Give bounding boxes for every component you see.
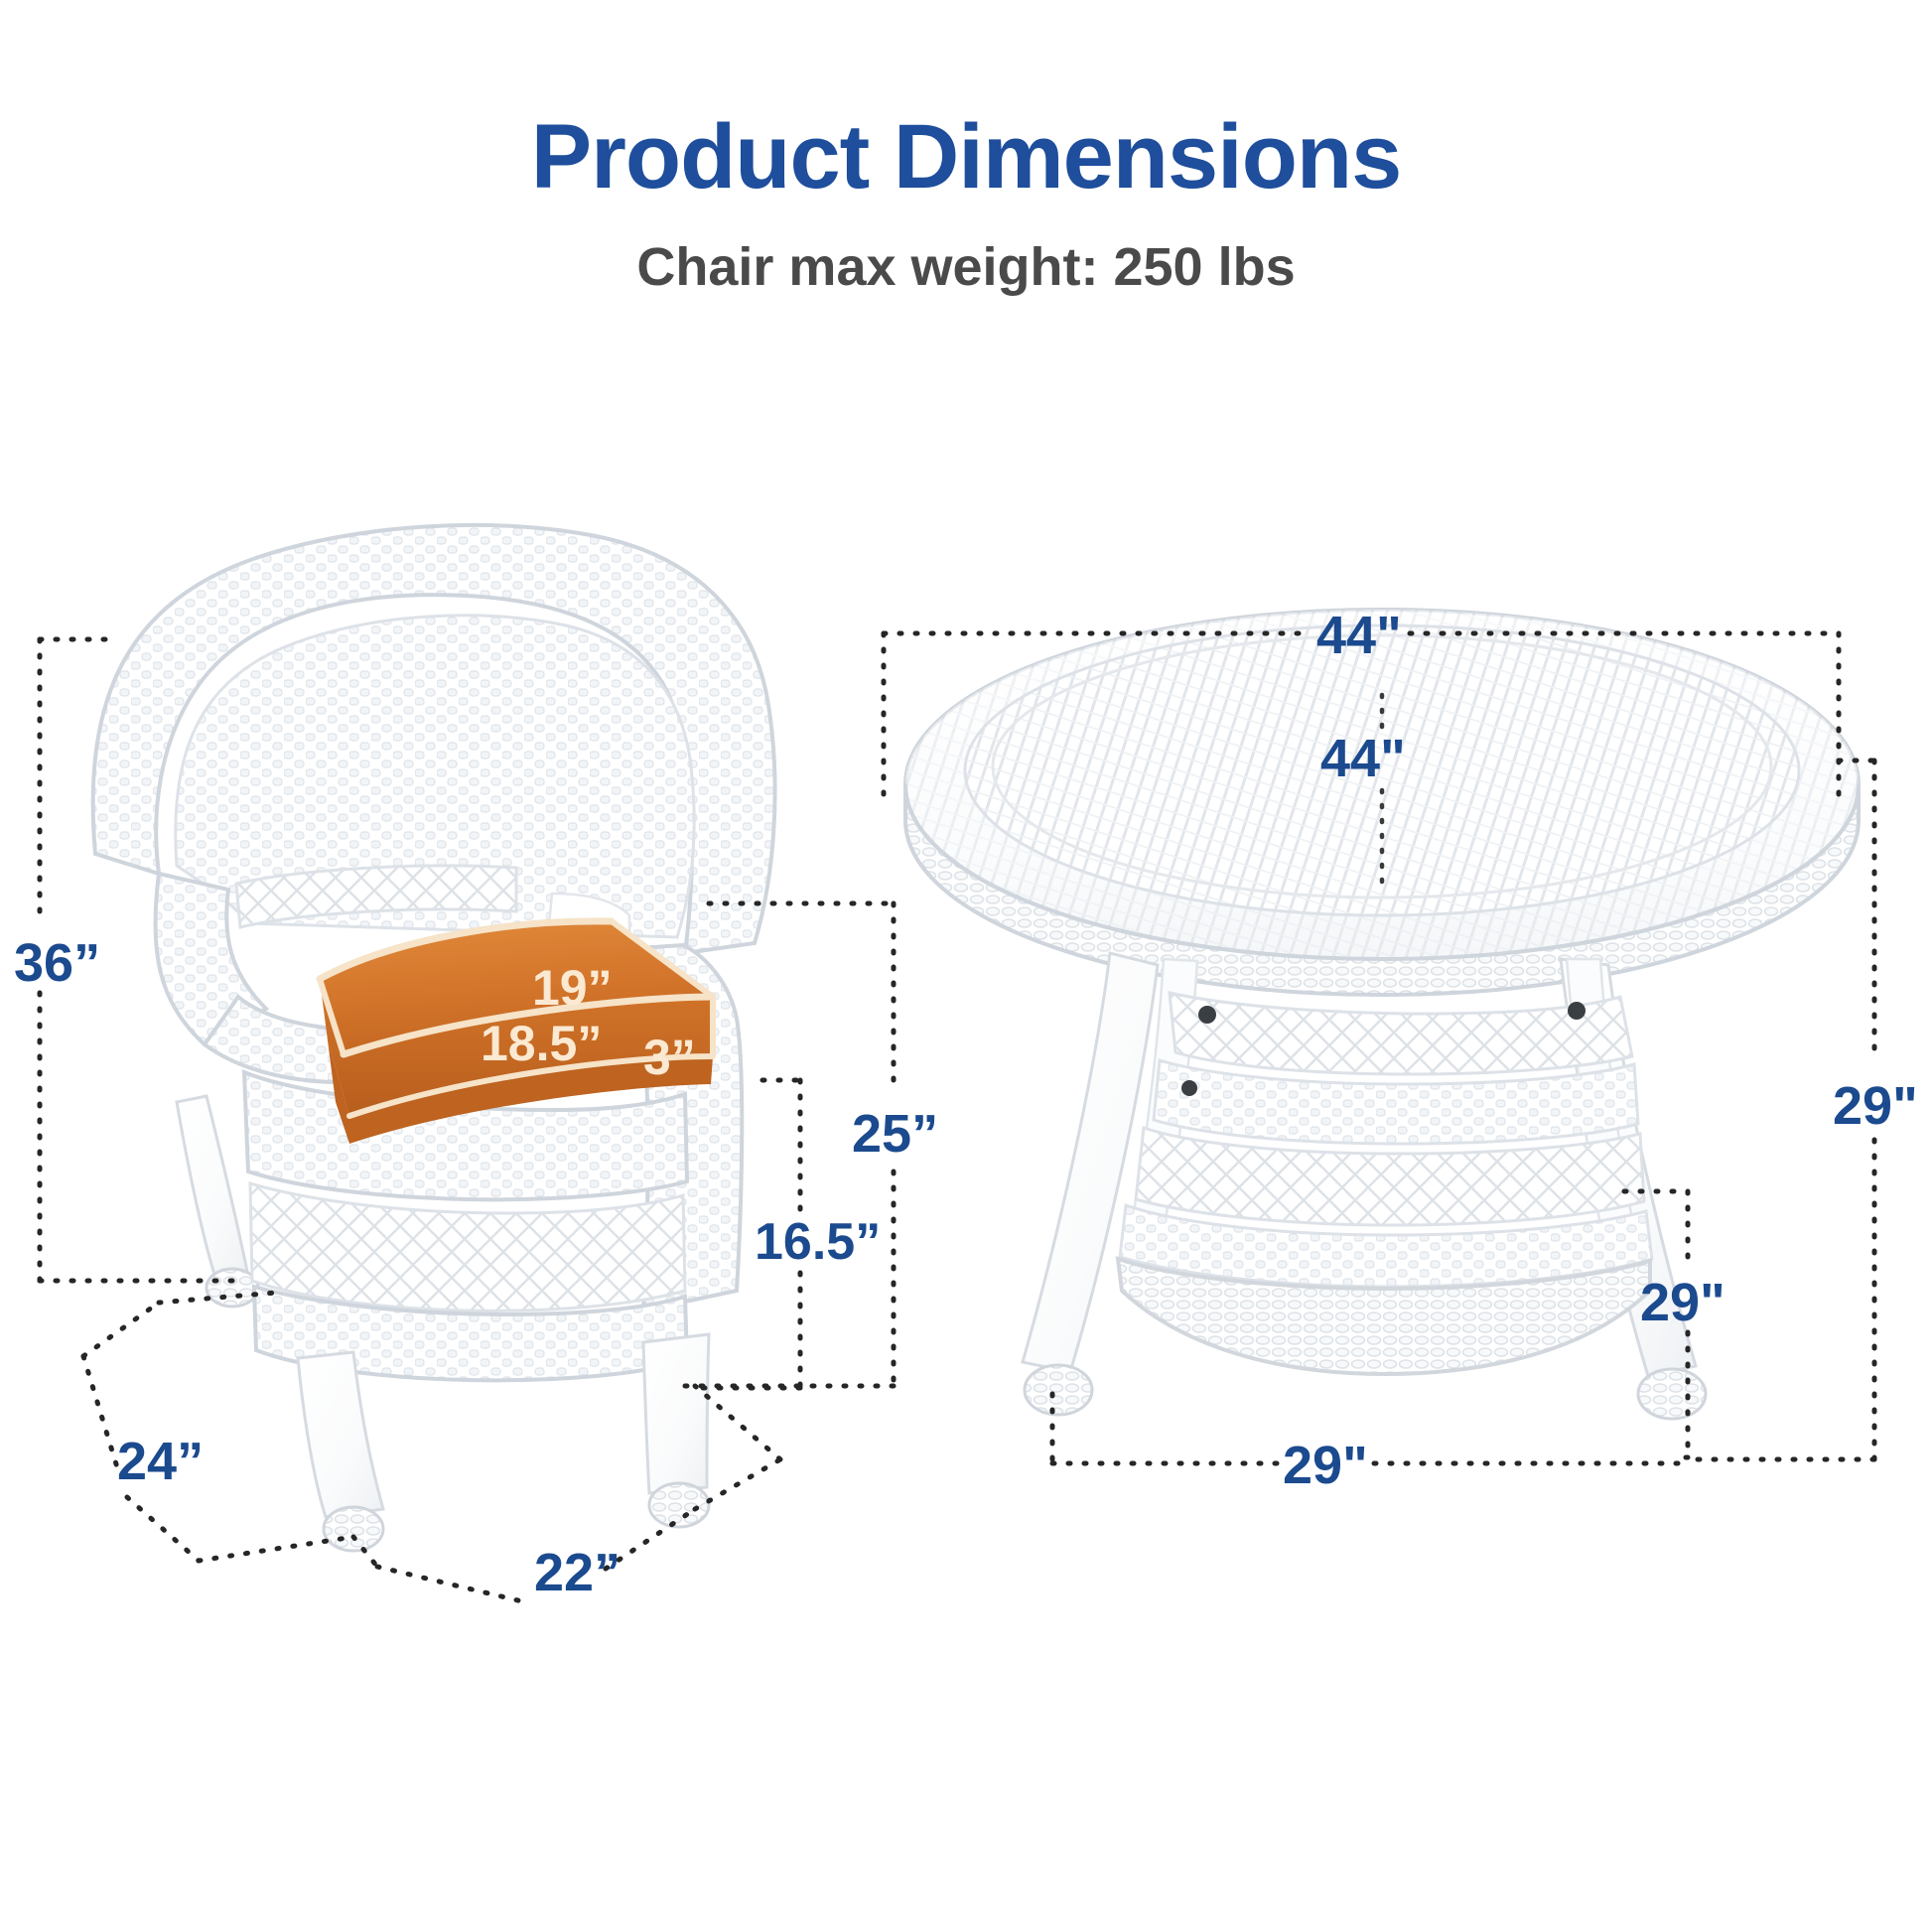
table-top-diameter-2-label: 44" [1320, 729, 1406, 788]
table-base-width-label: 29" [1283, 1436, 1368, 1495]
chair-height-label: 36” [14, 933, 100, 993]
chair-width-label: 22” [534, 1543, 621, 1602]
chair-depth-label: 24” [117, 1432, 204, 1491]
chair-seat-back-label: 25” [852, 1104, 938, 1164]
cushion-depth-label: 18.5” [481, 1016, 602, 1071]
chair-seat-height-label: 16.5” [755, 1213, 881, 1271]
cushion-thickness-label: 3” [643, 1030, 696, 1085]
table-height-label: 29" [1833, 1076, 1918, 1136]
table-base-height-label: 29" [1640, 1273, 1725, 1332]
wicker-chair-illustration: 19” 18.5” 3” 36” 25” 16.5” [14, 525, 938, 1602]
dimension-diagram: 19” 18.5” 3” 36” 25” 16.5” [0, 0, 1932, 1932]
product-dimensions-page: Product Dimensions Chair max weight: 250… [0, 0, 1932, 1932]
table-top-diameter-label: 44" [1316, 606, 1402, 665]
cushion-width-label: 19” [532, 960, 613, 1016]
wicker-round-table-illustration: 44" 44" 29" 29" 29" [884, 606, 1918, 1495]
